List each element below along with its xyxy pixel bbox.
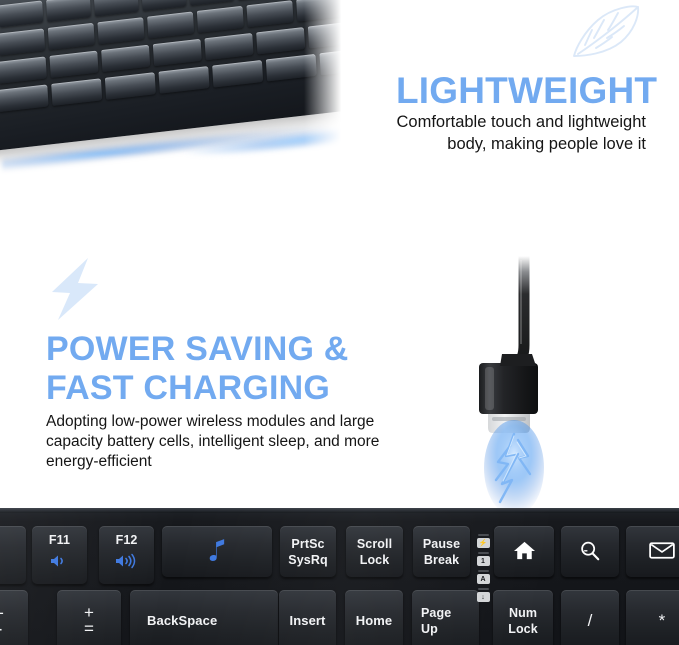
- keyboard-key-strip: F11 F12: [0, 508, 679, 645]
- key-plus-equals[interactable]: + =: [57, 590, 121, 645]
- key-partial-left-main[interactable]: – -: [0, 590, 28, 645]
- key-pause-break[interactable]: Pause Break: [413, 526, 470, 578]
- caps-lock-indicator-led: A: [477, 572, 490, 586]
- key-partial-left-fn[interactable]: [0, 526, 26, 585]
- feature-body-lightweight: Comfortable touch and lightweight body, …: [356, 112, 646, 155]
- feather-icon: [566, 4, 644, 62]
- key-home[interactable]: Home: [345, 590, 403, 645]
- feature-heading-lightweight: LIGHTWEIGHT: [396, 71, 646, 111]
- home-house-icon: [513, 540, 536, 564]
- key-prtsc-sysrq[interactable]: PrtSc SysRq: [280, 526, 336, 578]
- key-multiply[interactable]: *: [626, 590, 679, 645]
- search-magnifier-icon: [579, 540, 601, 565]
- key-f12[interactable]: F12: [99, 526, 154, 585]
- key-backspace[interactable]: BackSpace: [130, 590, 278, 645]
- battery-indicator-led: ⚡: [477, 536, 490, 550]
- feature-heading-power-saving-line1: POWER SAVING &: [46, 330, 349, 368]
- lightning-bolt-icon: [44, 256, 106, 322]
- volume-high-icon: [114, 553, 140, 572]
- music-note-icon: [208, 538, 227, 566]
- key-home-shortcut[interactable]: [494, 526, 554, 578]
- key-insert[interactable]: Insert: [279, 590, 336, 645]
- num-lock-indicator-led: 1: [477, 554, 490, 568]
- feature-heading-power-saving-line2: FAST CHARGING: [46, 369, 330, 407]
- keyboard-hero-photo: [0, 0, 362, 181]
- volume-low-icon: [49, 553, 71, 572]
- key-num-lock[interactable]: Num Lock: [493, 590, 553, 645]
- scroll-lock-indicator-led: ↓: [477, 590, 490, 604]
- usb-c-cable-illustration: [440, 250, 620, 510]
- keyboard-indicator-leds: ⚡ 1 A ↓: [476, 536, 490, 604]
- mail-envelope-icon: [649, 541, 675, 563]
- key-divide[interactable]: /: [561, 590, 619, 645]
- product-feature-banner: LIGHTWEIGHT Comfortable touch and lightw…: [0, 0, 679, 645]
- key-scroll-lock[interactable]: Scroll Lock: [346, 526, 403, 578]
- key-f11[interactable]: F11: [32, 526, 87, 585]
- feature-heading-power-saving: POWER SAVING & FAST CHARGING: [46, 330, 446, 408]
- key-media-music[interactable]: [162, 526, 272, 578]
- photo-fade-bottom: [0, 153, 362, 181]
- feature-body-power-saving: Adopting low-power wireless modules and …: [46, 412, 386, 472]
- key-search-shortcut[interactable]: [561, 526, 619, 578]
- key-mail-shortcut[interactable]: [626, 526, 679, 578]
- key-page-up[interactable]: Page Up: [412, 590, 479, 645]
